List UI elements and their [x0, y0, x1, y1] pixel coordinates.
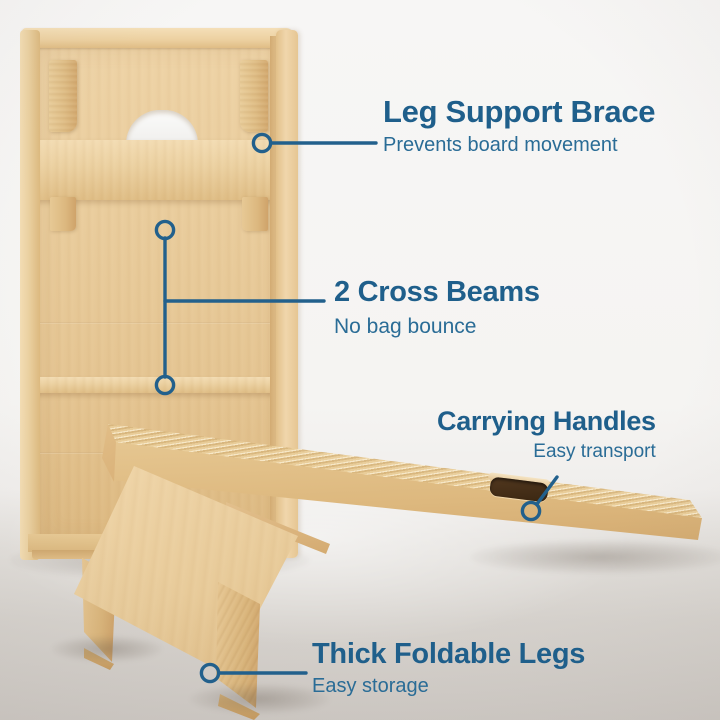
callout-subtitle: No bag bounce — [334, 315, 540, 339]
callout-title: 2 Cross Beams — [334, 278, 540, 308]
callout-leg-support-brace: Leg Support Brace Prevents board movemen… — [383, 96, 655, 157]
callout-subtitle: Prevents board movement — [383, 134, 655, 157]
callout-subtitle: Easy storage — [312, 675, 585, 698]
callout-subtitle: Easy transport — [437, 441, 656, 463]
callout-cross-beams: 2 Cross Beams No bag bounce — [334, 278, 540, 339]
callout-title: Thick Foldable Legs — [312, 640, 585, 670]
infographic-canvas: Leg Support Brace Prevents board movemen… — [0, 0, 720, 720]
callout-title: Leg Support Brace — [383, 96, 655, 128]
callout-title: Carrying Handles — [437, 408, 656, 436]
callout-carrying-handles: Carrying Handles Easy transport — [437, 408, 656, 462]
callout-thick-foldable-legs: Thick Foldable Legs Easy storage — [312, 640, 585, 698]
